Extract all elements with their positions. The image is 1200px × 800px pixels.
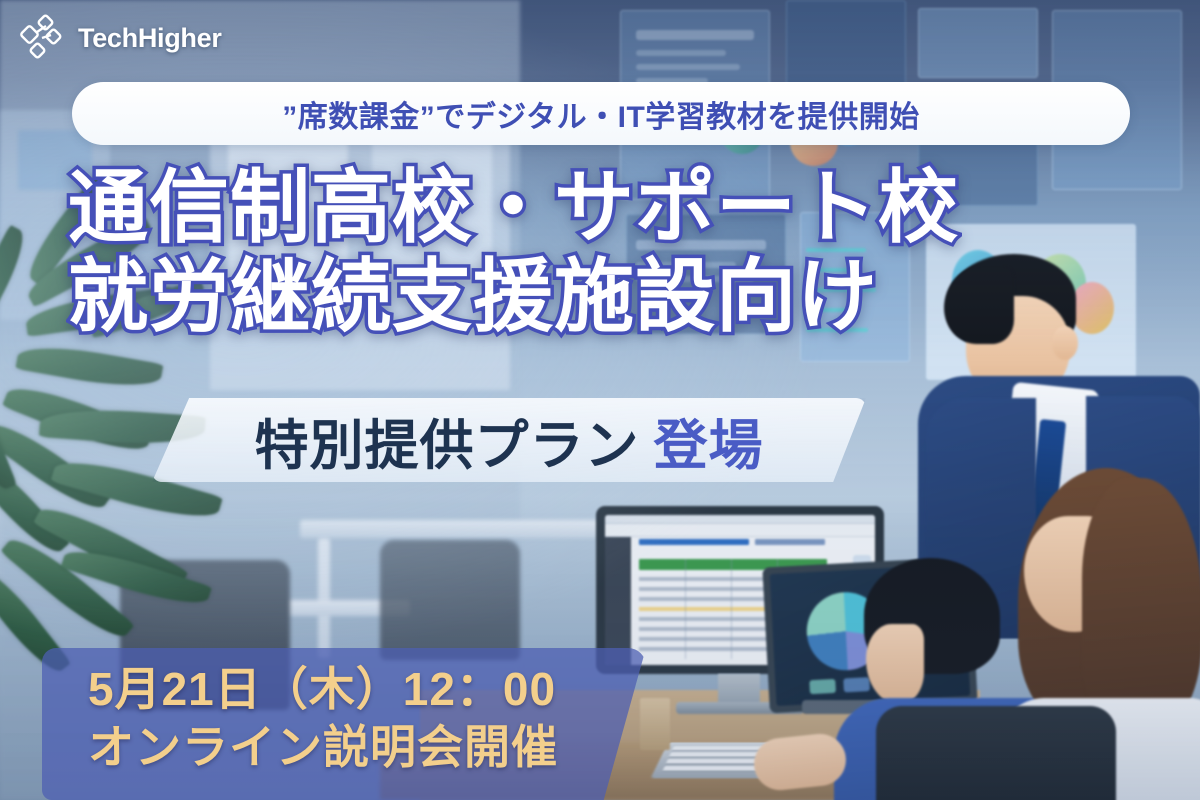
event-title: オンライン説明会開催 [88, 720, 646, 774]
headline-line-2: 就労継続支援施設向け [68, 255, 1068, 340]
plan-banner-accent: 登場 [654, 401, 764, 480]
promo-banner-canvas: TechHigher ”席数課金”でデジタル・IT学習教材を提供開始 通信制高校… [0, 0, 1200, 800]
tagline-text: ”席数課金”でデジタル・IT学習教材を提供開始 [282, 92, 920, 136]
headline-block: 通信制高校・サポート校 就労継続支援施設向け [68, 166, 1068, 340]
brand-name: TechHigher [78, 23, 222, 54]
techhigher-diamond-logo-icon [18, 14, 66, 62]
desk-cup [640, 698, 670, 750]
brand-logo[interactable]: TechHigher [18, 14, 222, 62]
event-info-panel: 5月21日（木）12：00 オンライン説明会開催 [42, 648, 646, 800]
office-desk [300, 520, 630, 538]
desk-leg [318, 538, 330, 658]
office-chair-back [876, 706, 1116, 800]
plan-banner-primary: 特別提供プラン [255, 401, 640, 480]
office-chair [380, 540, 520, 660]
event-date: 5月21日（木）12：00 [88, 662, 646, 716]
plan-banner: 特別提供プラン 登場 [152, 398, 866, 482]
headline-line-1: 通信制高校・サポート校 [68, 166, 1068, 251]
tagline-pill: ”席数課金”でデジタル・IT学習教材を提供開始 [72, 82, 1130, 145]
